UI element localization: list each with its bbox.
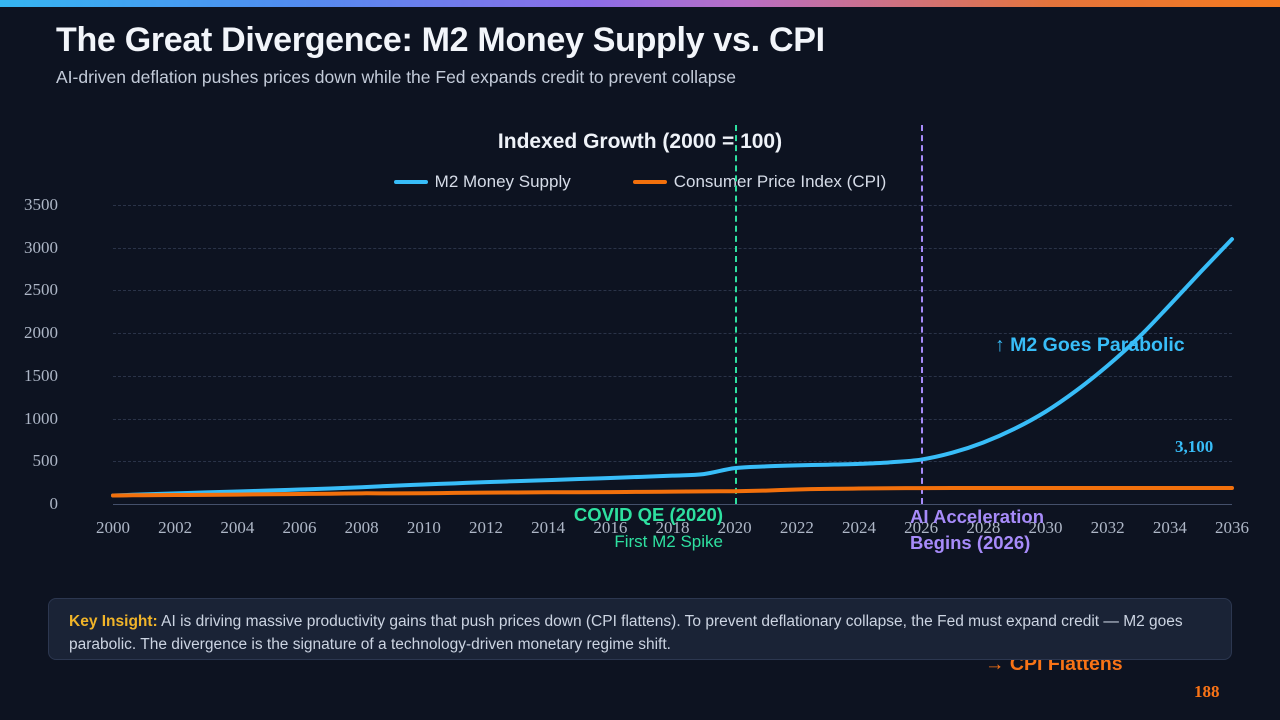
- legend-swatch-m2: [394, 180, 428, 184]
- x-axis-tick: 2006: [265, 518, 335, 538]
- series-line-m2: [113, 239, 1232, 495]
- y-axis-tick: 2500: [0, 280, 58, 300]
- key-insight-text: Key Insight: AI is driving massive produ…: [69, 610, 1211, 656]
- header: The Great Divergence: M2 Money Supply vs…: [56, 18, 1236, 90]
- x-axis-tick: 2010: [389, 518, 459, 538]
- annotation-m2-parabolic: ↑ M2 Goes Parabolic: [995, 334, 1185, 357]
- key-insight-body: AI is driving massive productivity gains…: [69, 613, 1183, 653]
- chart-legend: M2 Money Supply Consumer Price Index (CP…: [0, 172, 1280, 192]
- y-axis-tick: 3500: [0, 195, 58, 215]
- legend-label-cpi: Consumer Price Index (CPI): [674, 172, 887, 192]
- y-axis-tick: 1500: [0, 366, 58, 386]
- annotation-covid-title: COVID QE (2020): [505, 504, 723, 526]
- x-axis-tick: 2034: [1135, 518, 1205, 538]
- legend-item-m2[interactable]: M2 Money Supply: [394, 172, 571, 192]
- legend-item-cpi[interactable]: Consumer Price Index (CPI): [633, 172, 887, 192]
- legend-label-m2: M2 Money Supply: [435, 172, 571, 192]
- y-axis-tick: 1000: [0, 409, 58, 429]
- key-insight-box: Key Insight: AI is driving massive produ…: [48, 598, 1232, 660]
- m2-endpoint-value-label: 3,100: [1175, 437, 1213, 457]
- y-axis-tick: 0: [0, 494, 58, 514]
- x-axis-tick: 2022: [762, 518, 832, 538]
- y-axis-tick: 2000: [0, 323, 58, 343]
- x-axis-tick: 2036: [1197, 518, 1267, 538]
- key-insight-label: Key Insight:: [69, 613, 158, 630]
- annotation-ai-acceleration: AI Acceleration Begins (2026): [910, 504, 1110, 556]
- annotation-covid-subtitle: First M2 Spike: [505, 532, 723, 552]
- plot-wrapper: 0500100015002000250030003500 20002002200…: [0, 205, 1280, 555]
- gradient-accent-bar: [0, 0, 1280, 7]
- x-axis-tick: 2000: [78, 518, 148, 538]
- x-axis-tick: 2024: [824, 518, 894, 538]
- y-axis-tick: 3000: [0, 238, 58, 258]
- x-axis-tick: 2004: [202, 518, 272, 538]
- y-axis-tick: 500: [0, 451, 58, 471]
- x-axis-tick: 2008: [327, 518, 397, 538]
- chart-title: Indexed Growth (2000 = 100): [0, 130, 1280, 154]
- cpi-endpoint-value-label: 188: [1194, 682, 1220, 702]
- x-axis-tick: 2002: [140, 518, 210, 538]
- page-title: The Great Divergence: M2 Money Supply vs…: [56, 18, 1236, 62]
- legend-swatch-cpi: [633, 180, 667, 184]
- annotation-covid-qe: COVID QE (2020) First M2 Spike: [505, 504, 723, 552]
- chart-page: The Great Divergence: M2 Money Supply vs…: [0, 0, 1280, 720]
- page-subtitle: AI-driven deflation pushes prices down w…: [56, 64, 856, 90]
